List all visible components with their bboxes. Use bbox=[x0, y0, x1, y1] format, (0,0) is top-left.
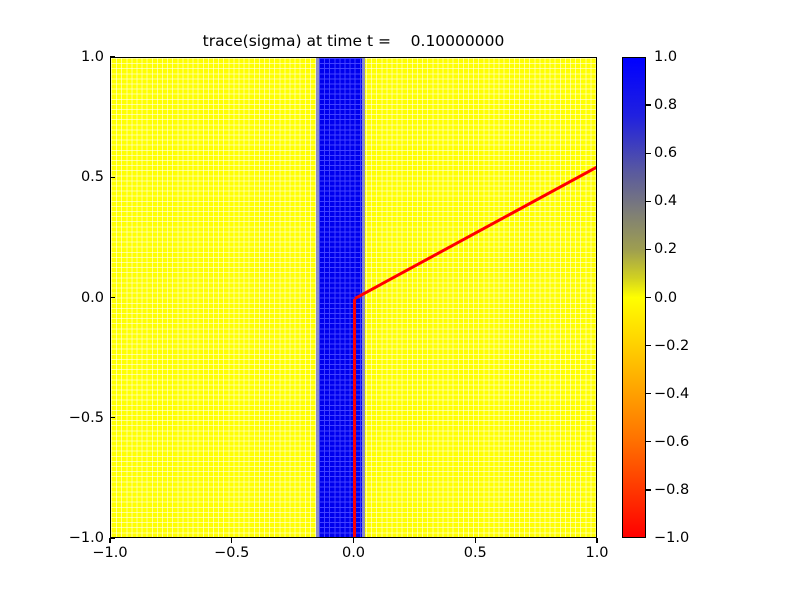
colorbar-tick-label: −0.2 bbox=[654, 338, 689, 354]
colorbar-tick-label: 0.8 bbox=[654, 97, 677, 113]
band-edge-right bbox=[362, 58, 365, 537]
colorbar-tick-label: 1.0 bbox=[654, 49, 677, 65]
colorbar-tick-label: 0.0 bbox=[654, 290, 677, 306]
colorbar-tick-mark bbox=[646, 153, 651, 154]
colorbar-tick-mark bbox=[646, 393, 651, 394]
colorbar-tick-label: −0.8 bbox=[654, 482, 689, 498]
crack-vertical-line bbox=[353, 299, 356, 539]
colorbar[interactable] bbox=[622, 57, 646, 538]
colorbar-tick-mark bbox=[646, 297, 651, 298]
colorbar-tick-mark bbox=[646, 489, 651, 490]
x-tick-mark bbox=[596, 538, 597, 543]
colorbar-tick-mark bbox=[646, 201, 651, 202]
y-tick-mark bbox=[110, 177, 115, 178]
x-tick-label: 0.5 bbox=[464, 545, 487, 561]
colorbar-tick-label: 0.4 bbox=[654, 193, 677, 209]
y-tick-label: 0.5 bbox=[81, 169, 104, 185]
colorbar-tick-label: 0.2 bbox=[654, 241, 677, 257]
matplotlib-figure: trace(sigma) at time t = 0.10000000 −1.0… bbox=[0, 0, 800, 600]
y-tick-mark bbox=[110, 537, 115, 538]
x-tick-label: −0.5 bbox=[214, 545, 249, 561]
y-tick-label: −1.0 bbox=[69, 530, 104, 546]
x-tick-mark bbox=[109, 538, 110, 543]
x-tick-label: 1.0 bbox=[585, 545, 608, 561]
y-tick-label: −0.5 bbox=[69, 410, 104, 426]
page-title: trace(sigma) at time t = 0.10000000 bbox=[110, 30, 597, 52]
colorbar-tick-label: −0.6 bbox=[654, 434, 689, 450]
x-tick-mark bbox=[475, 538, 476, 543]
y-tick-mark bbox=[110, 56, 115, 57]
band-edge-left bbox=[316, 58, 319, 537]
colorbar-tick-label: −1.0 bbox=[654, 530, 689, 546]
colorbar-tick-label: −0.4 bbox=[654, 386, 689, 402]
y-tick-label: 1.0 bbox=[81, 49, 104, 65]
x-tick-mark bbox=[353, 538, 354, 543]
colorbar-tick-mark bbox=[646, 249, 651, 250]
colorbar-tick-mark bbox=[646, 104, 651, 105]
colorbar-tick-label: 0.6 bbox=[654, 145, 677, 161]
y-tick-label: 0.0 bbox=[81, 290, 104, 306]
plot-axes[interactable] bbox=[110, 57, 597, 538]
x-tick-label: −1.0 bbox=[92, 545, 127, 561]
y-tick-mark bbox=[110, 417, 115, 418]
x-tick-mark bbox=[231, 538, 232, 543]
x-tick-label: 0.0 bbox=[342, 545, 365, 561]
colorbar-tick-mark bbox=[646, 441, 651, 442]
colorbar-tick-mark bbox=[646, 345, 651, 346]
y-tick-mark bbox=[110, 297, 115, 298]
